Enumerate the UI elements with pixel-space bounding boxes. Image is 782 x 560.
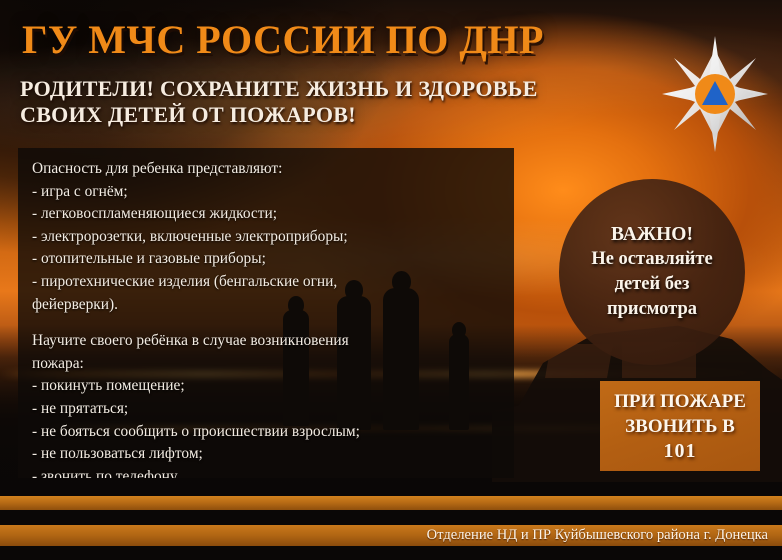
emergency-number: 101 — [664, 439, 697, 464]
important-heading: ВАЖНО! — [611, 222, 693, 247]
important-notice-circle: ВАЖНО! Не оставляйте детей без присмотра — [559, 179, 745, 365]
paragraph-spacer — [32, 316, 500, 330]
emergency-call-box: ПРИ ПОЖАРЕ ЗВОНИТЬ В 101 — [600, 381, 760, 471]
page-title: ГУ МЧС РОССИИ ПО ДНР — [22, 16, 544, 63]
fire-safety-poster: ГУ МЧС РОССИИ ПО ДНР РОДИТЕЛИ! СОХРАНИТЕ… — [0, 0, 782, 560]
subtitle-line-2: СВОИХ ДЕТЕЙ ОТ ПОЖАРОВ! — [20, 102, 538, 128]
important-line-4: присмотра — [607, 297, 697, 322]
footer-bar: Отделение НД и ПР Куйбышевского района г… — [0, 525, 782, 546]
danger-list-text: Опасность для ребенка представляют: - иг… — [32, 158, 500, 316]
footer-text: Отделение НД и ПР Куйбышевского района г… — [427, 525, 768, 546]
subtitle-line-1: РОДИТЕЛИ! СОХРАНИТЕ ЖИЗНЬ И ЗДОРОВЬЕ — [20, 76, 538, 102]
important-line-2: Не оставляйте — [591, 247, 712, 272]
emercom-star-emblem — [660, 34, 770, 154]
safety-text-panel: Опасность для ребенка представляют: - иг… — [18, 148, 514, 478]
important-line-3: детей без — [615, 272, 690, 297]
call-box-line-2: ЗВОНИТЬ В — [625, 414, 735, 439]
call-box-line-1: ПРИ ПОЖАРЕ — [614, 389, 746, 414]
poster-subtitle: РОДИТЕЛИ! СОХРАНИТЕ ЖИЗНЬ И ЗДОРОВЬЕ СВО… — [20, 76, 538, 128]
divider-bar-upper — [0, 496, 782, 510]
instructions-list-text: Научите своего ребёнка в случае возникно… — [32, 330, 500, 478]
